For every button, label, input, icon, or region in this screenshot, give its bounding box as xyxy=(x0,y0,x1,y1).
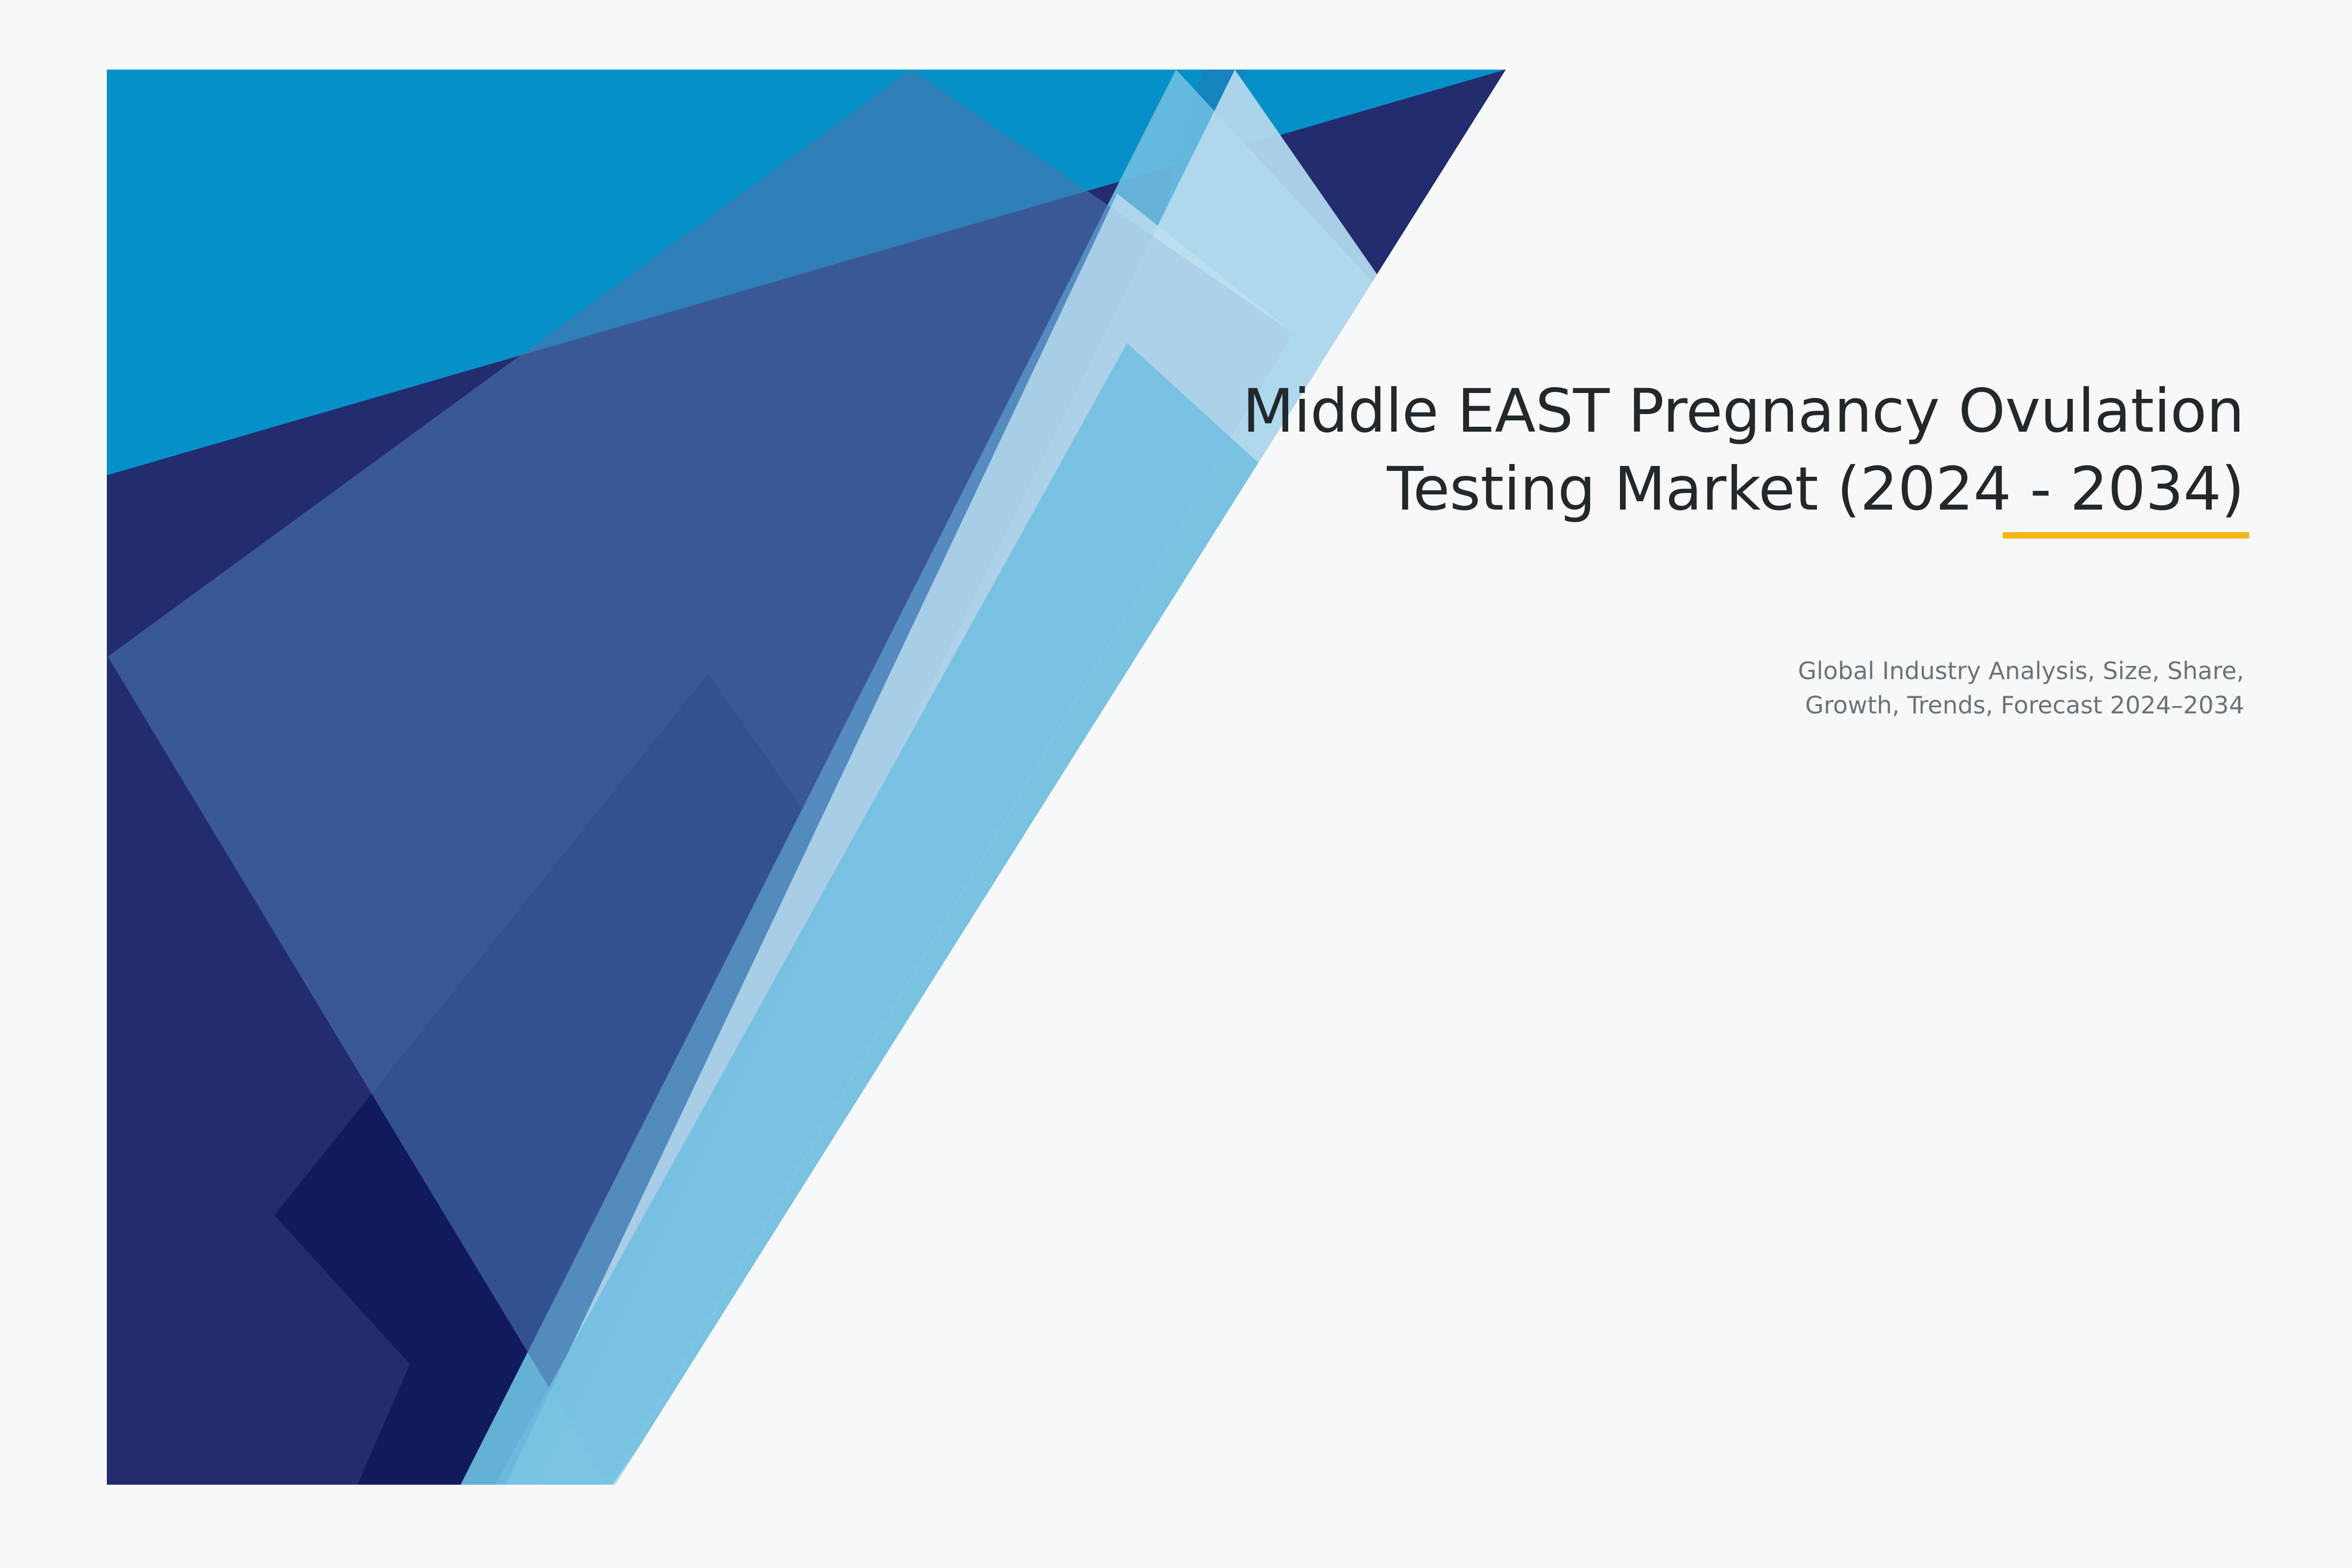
artwork-top-mask xyxy=(0,0,2352,70)
cover-text-block: Middle EAST Pregnancy Ovulation Testing … xyxy=(931,372,2244,528)
title-underline-accent xyxy=(2003,532,2249,539)
page-title: Middle EAST Pregnancy Ovulation Testing … xyxy=(931,372,2244,528)
artwork-left-mask xyxy=(0,0,107,1568)
abstract-geometric-artwork xyxy=(0,0,2352,1568)
cover-page: Middle EAST Pregnancy Ovulation Testing … xyxy=(0,0,2352,1568)
artwork-bottom-mask xyxy=(0,1485,2352,1568)
page-subtitle: Global Industry Analysis, Size, Share, G… xyxy=(931,654,2244,722)
